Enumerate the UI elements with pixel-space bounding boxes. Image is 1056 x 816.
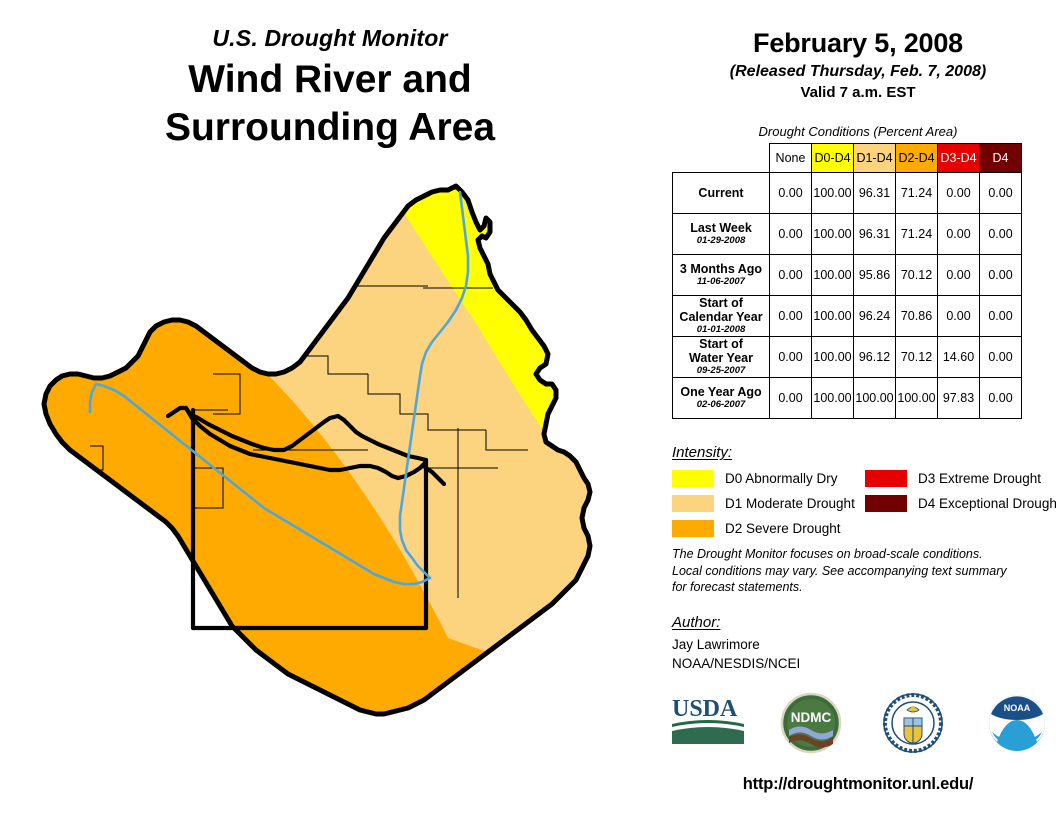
row-label-last-week: Last Week 01-29-2008 <box>673 214 770 255</box>
cell-1yr-d1d4: 100.00 <box>854 378 896 419</box>
row-label-one-year-ago: One Year Ago 02-06-2007 <box>673 378 770 419</box>
cell-current-d2d4: 71.24 <box>896 173 938 214</box>
cell-wy-d2d4: 70.12 <box>896 337 938 378</box>
author-name: Jay Lawrimore <box>672 636 800 655</box>
row-label-date: 02-06-2007 <box>673 400 769 411</box>
row-label-text: Start of <box>673 337 769 351</box>
row-label-date: 09-25-2007 <box>673 366 769 377</box>
usda-logo[interactable]: USDA <box>670 694 746 755</box>
row-label-start-water-year: Start of Water Year 09-25-2007 <box>673 337 770 378</box>
svg-text:USDA: USDA <box>672 696 738 722</box>
website-url[interactable]: http://droughtmonitor.unl.edu/ <box>660 775 1056 794</box>
cell-cy-d0d4: 100.00 <box>812 296 854 337</box>
valid-time: Valid 7 a.m. EST <box>660 84 1056 101</box>
legend-swatch-d0 <box>672 470 714 487</box>
logos-row: USDA NDMC <box>660 692 1056 756</box>
table-row: Last Week 01-29-2008 0.00 100.00 96.31 7… <box>673 214 1022 255</box>
cell-3mo-d1d4: 95.86 <box>854 255 896 296</box>
cell-wy-none: 0.00 <box>770 337 812 378</box>
column-header-d1d4: D1-D4 <box>854 144 896 173</box>
title-block: U.S. Drought Monitor Wind River and Surr… <box>0 26 660 151</box>
drought-conditions-table: None D0-D4 D1-D4 D2-D4 D3-D4 D4 Current … <box>672 143 1022 419</box>
table-row: Start of Water Year 09-25-2007 0.00 100.… <box>673 337 1022 378</box>
cell-cy-d2d4: 70.86 <box>896 296 938 337</box>
disclaimer-line3: for forecast statements. <box>672 579 1042 596</box>
column-header-d0d4: D0-D4 <box>812 144 854 173</box>
svg-text:NDMC: NDMC <box>791 710 832 725</box>
table-caption: Drought Conditions (Percent Area) <box>660 124 1056 139</box>
header-blank-cell <box>673 144 770 173</box>
row-label-text: Current <box>673 186 769 200</box>
legend-item-d1: D1 Moderate Drought <box>672 495 855 512</box>
column-header-d2d4: D2-D4 <box>896 144 938 173</box>
row-label-start-calendar-year: Start of Calendar Year 01-01-2008 <box>673 296 770 337</box>
noaa-logo[interactable]: NOAA <box>986 692 1048 759</box>
cell-3mo-d4: 0.00 <box>980 255 1022 296</box>
map-svg <box>28 178 653 723</box>
row-label-three-months-ago: 3 Months Ago 11-06-2007 <box>673 255 770 296</box>
legend-item-d0: D0 Abnormally Dry <box>672 470 838 487</box>
cell-1yr-d0d4: 100.00 <box>812 378 854 419</box>
cell-current-d4: 0.00 <box>980 173 1022 214</box>
legend-label-d1: D1 Moderate Drought <box>725 496 855 511</box>
cell-1yr-d3d4: 97.83 <box>938 378 980 419</box>
cell-3mo-d3d4: 0.00 <box>938 255 980 296</box>
cell-3mo-d0d4: 100.00 <box>812 255 854 296</box>
cell-current-d1d4: 96.31 <box>854 173 896 214</box>
cell-lastweek-d4: 0.00 <box>980 214 1022 255</box>
disclaimer-line2: Local conditions may vary. See accompany… <box>672 563 1042 580</box>
legend-swatch-d1 <box>672 495 714 512</box>
cell-cy-d1d4: 96.24 <box>854 296 896 337</box>
table-row: Start of Calendar Year 01-01-2008 0.00 1… <box>673 296 1022 337</box>
cell-wy-d3d4: 14.60 <box>938 337 980 378</box>
row-label-text: Last Week <box>673 221 769 235</box>
cell-lastweek-none: 0.00 <box>770 214 812 255</box>
cell-lastweek-d1d4: 96.31 <box>854 214 896 255</box>
cell-wy-d0d4: 100.00 <box>812 337 854 378</box>
legend-item-d2: D2 Severe Drought <box>672 520 841 537</box>
table-row: One Year Ago 02-06-2007 0.00 100.00 100.… <box>673 378 1022 419</box>
author-affiliation: NOAA/NESDIS/NCEI <box>672 655 800 674</box>
row-label-text: One Year Ago <box>673 385 769 399</box>
legend-swatch-d3 <box>865 470 907 487</box>
cell-current-d0d4: 100.00 <box>812 173 854 214</box>
cell-cy-d3d4: 0.00 <box>938 296 980 337</box>
legend-swatch-d2 <box>672 520 714 537</box>
legend-label-d0: D0 Abnormally Dry <box>725 471 838 486</box>
legend-label-d3: D3 Extreme Drought <box>918 471 1041 486</box>
cell-current-d3d4: 0.00 <box>938 173 980 214</box>
author-title: Author: <box>672 614 720 631</box>
report-date: February 5, 2008 <box>660 28 1056 59</box>
row-label-text2: Water Year <box>673 351 769 365</box>
cell-lastweek-d3d4: 0.00 <box>938 214 980 255</box>
legend-label-d2: D2 Severe Drought <box>725 521 841 536</box>
release-date: (Released Thursday, Feb. 7, 2008) <box>660 63 1056 81</box>
legend-label-d4: D4 Exceptional Drought <box>918 496 1056 511</box>
page-title: Wind River and Surrounding Area <box>0 56 660 151</box>
agency-title: U.S. Drought Monitor <box>0 26 660 51</box>
cell-1yr-none: 0.00 <box>770 378 812 419</box>
row-label-text: Start of <box>673 296 769 310</box>
legend-swatch-d4 <box>865 495 907 512</box>
wind-river-drought-map[interactable] <box>28 178 653 723</box>
column-header-none: None <box>770 144 812 173</box>
legend-item-d4: D4 Exceptional Drought <box>865 495 1056 512</box>
region-title-line2: Surrounding Area <box>0 104 660 152</box>
intensity-legend-title: Intensity: <box>672 444 732 461</box>
row-label-date: 01-29-2008 <box>673 236 769 247</box>
row-label-date: 11-06-2007 <box>673 277 769 288</box>
cell-1yr-d4: 0.00 <box>980 378 1022 419</box>
disclaimer-line1: The Drought Monitor focuses on broad-sca… <box>672 546 1042 563</box>
cell-wy-d1d4: 96.12 <box>854 337 896 378</box>
table-row: Current 0.00 100.00 96.31 71.24 0.00 0.0… <box>673 173 1022 214</box>
cell-lastweek-d0d4: 100.00 <box>812 214 854 255</box>
header-block: February 5, 2008 (Released Thursday, Feb… <box>660 28 1056 101</box>
cell-current-none: 0.00 <box>770 173 812 214</box>
cell-cy-none: 0.00 <box>770 296 812 337</box>
column-header-d3d4: D3-D4 <box>938 144 980 173</box>
table-header-row: None D0-D4 D1-D4 D2-D4 D3-D4 D4 <box>673 144 1022 173</box>
svg-text:NOAA: NOAA <box>1004 703 1031 713</box>
author-block: Jay Lawrimore NOAA/NESDIS/NCEI <box>672 636 800 673</box>
cell-3mo-d2d4: 70.12 <box>896 255 938 296</box>
ndmc-logo[interactable]: NDMC <box>780 692 842 759</box>
drought-monitor-page: U.S. Drought Monitor Wind River and Surr… <box>0 0 1056 816</box>
table-row: 3 Months Ago 11-06-2007 0.00 100.00 95.8… <box>673 255 1022 296</box>
cell-cy-d4: 0.00 <box>980 296 1022 337</box>
cell-wy-d4: 0.00 <box>980 337 1022 378</box>
column-header-d4: D4 <box>980 144 1022 173</box>
legend-item-d3: D3 Extreme Drought <box>865 470 1041 487</box>
usdc-seal-logo[interactable] <box>882 692 944 759</box>
cell-3mo-none: 0.00 <box>770 255 812 296</box>
region-title-line1: Wind River and <box>0 56 660 104</box>
cell-lastweek-d2d4: 71.24 <box>896 214 938 255</box>
row-label-date: 01-01-2008 <box>673 325 769 336</box>
row-label-text2: Calendar Year <box>673 310 769 324</box>
row-label-text: 3 Months Ago <box>673 262 769 276</box>
cell-1yr-d2d4: 100.00 <box>896 378 938 419</box>
row-label-current: Current <box>673 173 770 214</box>
disclaimer-text: The Drought Monitor focuses on broad-sca… <box>672 546 1042 596</box>
